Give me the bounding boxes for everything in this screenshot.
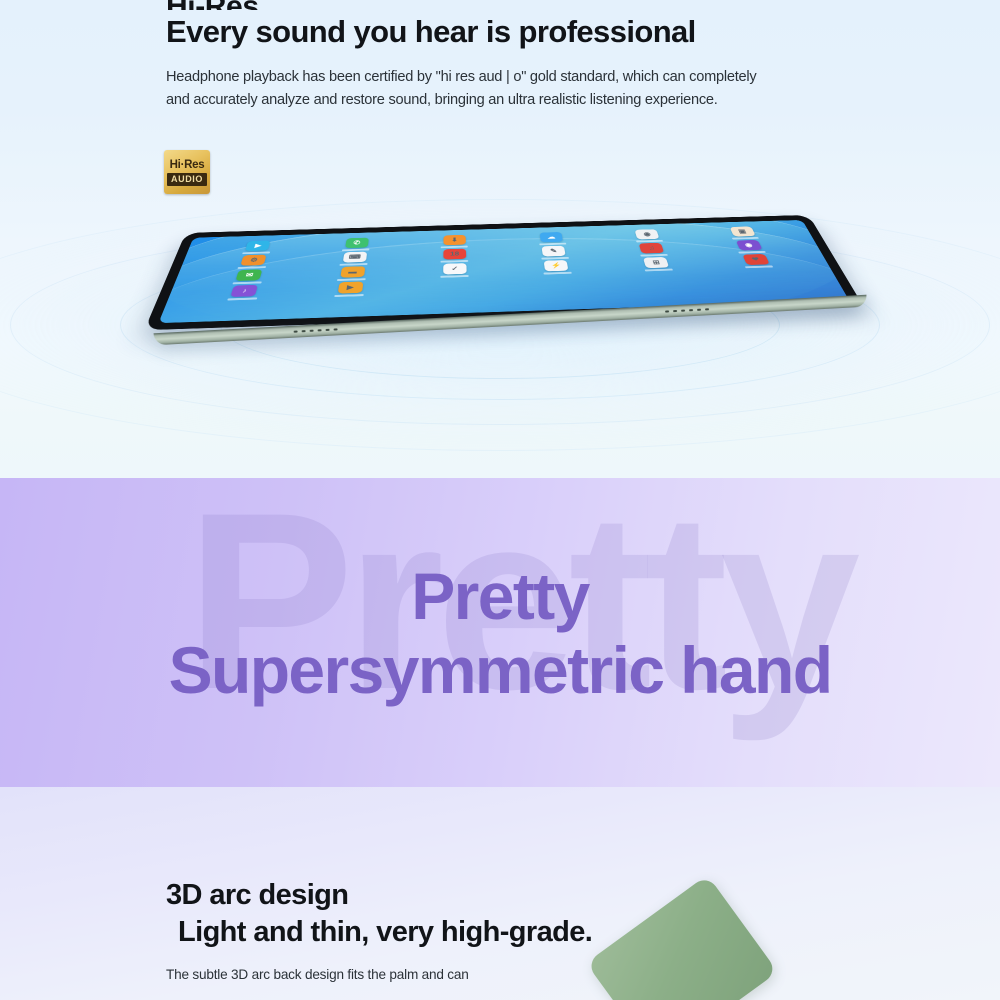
app-icon-browser-glyph: ⚡ [544,260,569,271]
arc-heading-line1: 3D arc design [166,877,926,913]
app-icon-calendar-glyph: 18 [443,249,466,260]
tablet-bezel: ▶✆⬇☁◉▣⚙⌨18✎♫◉✉▬✓⚡⊞❤♪▶ [144,215,863,330]
app-icon-gallery-glyph: ◉ [635,229,660,239]
app-icon-video[interactable]: ▶ [209,240,305,256]
app-icon-notes-glyph: ✎ [542,246,566,257]
hi-res-audio-section: Hi-Res Every sound you hear is professio… [0,0,1000,478]
app-icon-check[interactable]: ✓ [407,262,503,279]
app-icon-phone[interactable]: ✆ [309,237,402,253]
arc-heading-line2: Light and thin, very high-grade. [178,913,926,951]
app-icon-appstore-label [645,269,673,272]
app-icon-radio-glyph: ◉ [735,240,762,251]
app-icon-appstore[interactable]: ⊞ [609,256,706,272]
app-icon-browser-label [543,272,571,275]
app-icon-cloud-glyph: ☁ [540,232,564,242]
app-icon-download-glyph: ⬇ [443,235,465,245]
app-icon-tools-glyph: ⚙ [241,255,267,266]
hi-res-body-text: Headphone playback has been certified by… [166,66,766,112]
hi-res-headline: Every sound you hear is professional [166,12,926,52]
app-icon-mail[interactable]: ✉ [198,268,299,285]
app-icon-photos[interactable]: ▣ [696,226,790,241]
app-icon-keyboard[interactable]: ⌨ [306,251,401,267]
app-icon-photos-glyph: ▣ [729,227,755,237]
app-icon-notes[interactable]: ✎ [507,245,601,261]
app-icon-check-glyph: ✓ [443,263,466,274]
pretty-headline-line2: Supersymmetric hand [169,634,832,706]
app-icon-mail-glyph: ✉ [236,270,263,282]
tablet-frame: ▶✆⬇☁◉▣⚙⌨18✎♫◉✉▬✓⚡⊞❤♪▶ [144,215,863,330]
hi-res-text-block: Hi-Res Every sound you hear is professio… [166,0,926,112]
arc-text-block: 3D arc design Light and thin, very high-… [166,877,926,985]
app-icon-heart-label [745,266,773,269]
app-icon-phone-glyph: ✆ [345,238,369,249]
product-detail-page: Hi-Res Every sound you hear is professio… [0,0,1000,1000]
app-icon-heart-glyph: ❤ [742,254,770,265]
app-icon-keyboard-glyph: ⌨ [342,252,366,263]
tablet-device-image: ▶✆⬇☁◉▣⚙⌨18✎♫◉✉▬✓⚡⊞❤♪▶ [150,168,870,338]
app-icon-appstore-glyph: ⊞ [643,257,669,268]
app-icon-music-red[interactable]: ♫ [605,242,700,258]
app-icon-download[interactable]: ⬇ [409,234,500,249]
pretty-section: Pretty Pretty Supersymmetric hand [0,478,1000,787]
app-icon-browser[interactable]: ⚡ [509,259,605,276]
app-icon-radio[interactable]: ◉ [702,239,798,255]
arc-design-section: 3D arc design Light and thin, very high-… [0,787,1000,1000]
app-icon-check-label [441,275,469,278]
app-icon-cloud[interactable]: ☁ [506,231,598,246]
app-icon-gallery[interactable]: ◉ [602,228,695,243]
app-icon-tools[interactable]: ⚙ [204,254,302,270]
speaker-grille-left [294,328,338,332]
app-icon-music-red-glyph: ♫ [639,243,665,254]
app-icon-video-glyph: ▶ [245,241,271,252]
hi-res-audio-badge-icon: Hi·Res AUDIO [164,150,210,194]
app-icon-music-glyph: ♪ [231,285,259,297]
badge-top-label: Hi·Res [170,159,205,171]
arc-body-text: The subtle 3D arc back design fits the p… [166,965,926,985]
app-icon-player-glyph: ▶ [337,282,363,294]
app-icon-calendar[interactable]: 18 [408,248,502,264]
app-icon-heart[interactable]: ❤ [708,253,806,269]
pretty-headline-stack: Pretty Supersymmetric hand [0,478,1000,787]
app-icon-wallet[interactable]: ▬ [303,265,401,282]
badge-bottom-label: AUDIO [167,173,207,186]
speaker-grille-right [665,308,709,312]
pretty-headline-line1: Pretty [411,560,588,632]
hi-res-kicker: Hi-Res [166,0,926,10]
app-icon-wallet-glyph: ▬ [340,266,365,278]
